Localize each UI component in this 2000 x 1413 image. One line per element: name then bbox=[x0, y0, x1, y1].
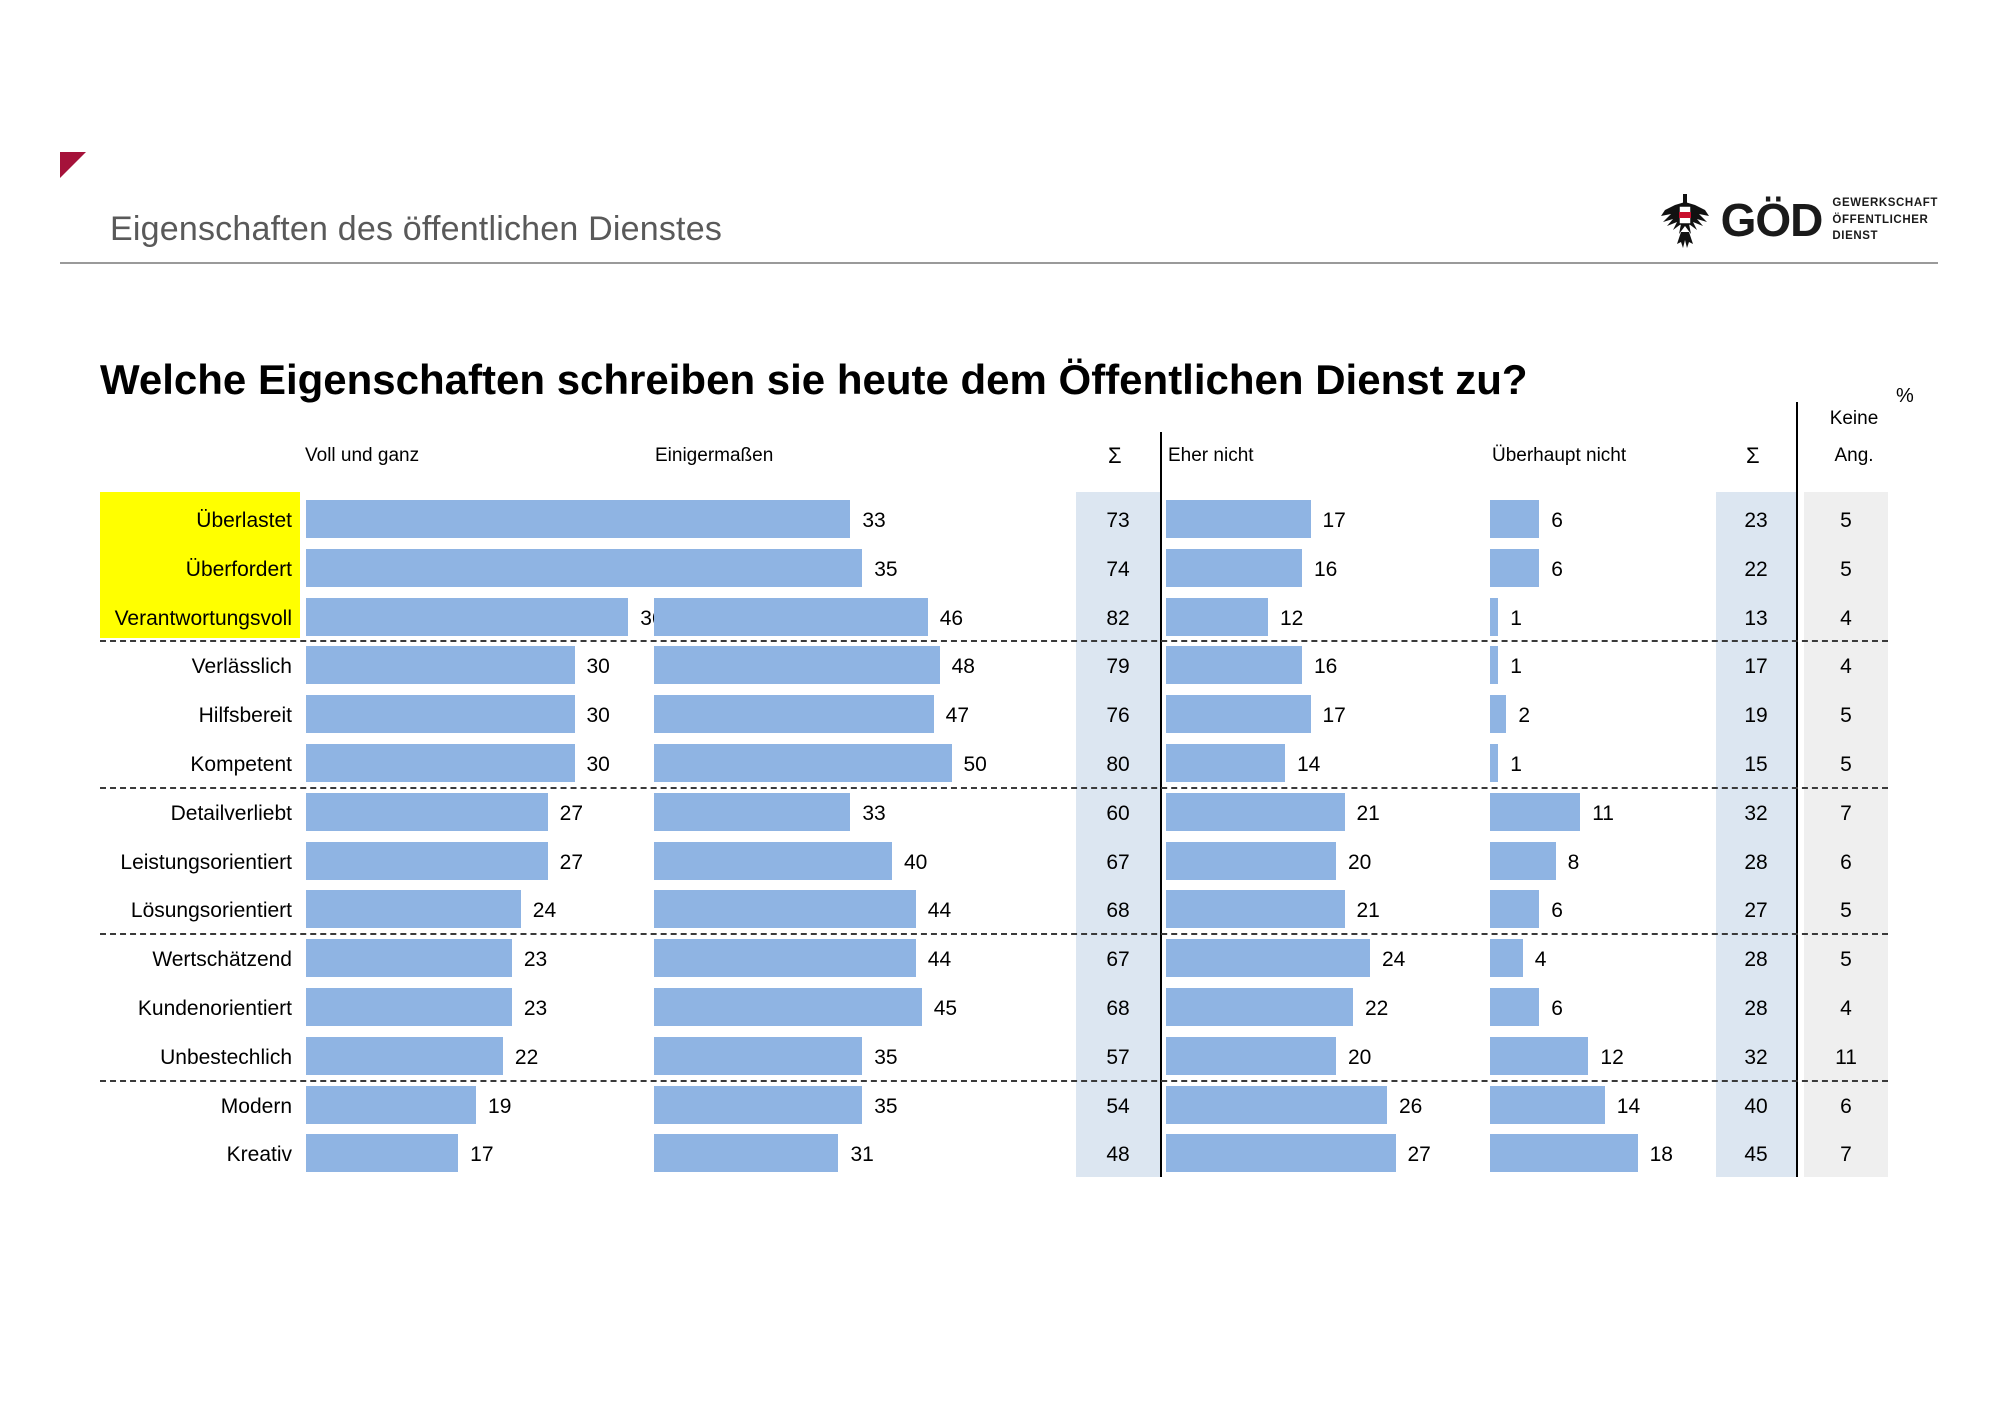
column-header-sum2: Σ bbox=[1746, 443, 1760, 469]
value-sum1: 82 bbox=[1076, 608, 1160, 629]
value-einigermassen: 40 bbox=[904, 852, 927, 873]
value-ueberhaupt-nicht: 6 bbox=[1551, 900, 1563, 921]
value-sum2: 32 bbox=[1716, 1047, 1796, 1068]
value-sum2: 17 bbox=[1716, 656, 1796, 677]
value-voll-und-ganz: 27 bbox=[560, 852, 583, 873]
bar-voll-und-ganz bbox=[306, 646, 575, 684]
value-keine-ang: 7 bbox=[1804, 1144, 1888, 1165]
value-sum1: 73 bbox=[1076, 510, 1160, 531]
value-keine-ang: 4 bbox=[1804, 656, 1888, 677]
bar-einigermassen bbox=[654, 1037, 862, 1075]
value-eher-nicht: 21 bbox=[1357, 900, 1380, 921]
bar-eher-nicht bbox=[1166, 695, 1311, 733]
value-keine-ang: 5 bbox=[1804, 705, 1888, 726]
row-label: Modern bbox=[100, 1096, 292, 1117]
value-einigermassen: 44 bbox=[928, 949, 951, 970]
value-keine-ang: 4 bbox=[1804, 998, 1888, 1019]
value-keine-ang: 5 bbox=[1804, 949, 1888, 970]
column-header-einigermassen: Einigermaßen bbox=[655, 445, 773, 467]
bar-voll-und-ganz bbox=[306, 1086, 476, 1124]
bar-voll-und-ganz bbox=[306, 1134, 458, 1172]
bar-eher-nicht bbox=[1166, 842, 1336, 880]
bar-ueberhaupt-nicht bbox=[1490, 500, 1539, 538]
row-label: Wertschätzend bbox=[100, 949, 292, 970]
bar-voll-und-ganz bbox=[306, 549, 655, 587]
value-sum2: 23 bbox=[1716, 510, 1796, 531]
keine-ang-column-band bbox=[1804, 492, 1888, 1177]
row-label: Leistungsorientiert bbox=[100, 852, 292, 873]
group-separator-line bbox=[100, 1080, 1888, 1082]
value-sum1: 67 bbox=[1076, 852, 1160, 873]
row-label: Kompetent bbox=[100, 754, 292, 775]
value-sum2: 13 bbox=[1716, 608, 1796, 629]
bar-eher-nicht bbox=[1166, 1134, 1396, 1172]
bar-einigermassen bbox=[654, 646, 940, 684]
value-eher-nicht: 24 bbox=[1382, 949, 1405, 970]
column-header-sum1: Σ bbox=[1108, 443, 1122, 469]
bar-eher-nicht bbox=[1166, 598, 1268, 636]
value-keine-ang: 6 bbox=[1804, 852, 1888, 873]
bar-einigermassen bbox=[654, 988, 922, 1026]
bar-ueberhaupt-nicht bbox=[1490, 890, 1539, 928]
value-eher-nicht: 16 bbox=[1314, 559, 1337, 580]
row-label: Verlässlich bbox=[100, 656, 292, 677]
value-keine-ang: 5 bbox=[1804, 510, 1888, 531]
bar-ueberhaupt-nicht bbox=[1490, 695, 1506, 733]
value-keine-ang: 6 bbox=[1804, 1096, 1888, 1117]
value-ueberhaupt-nicht: 11 bbox=[1592, 803, 1614, 824]
row-label: Hilfsbereit bbox=[100, 705, 292, 726]
bar-eher-nicht bbox=[1166, 549, 1302, 587]
value-einigermassen: 35 bbox=[874, 1047, 897, 1068]
value-einigermassen: 33 bbox=[862, 510, 885, 531]
group-separator-line bbox=[100, 640, 1888, 642]
value-ueberhaupt-nicht: 14 bbox=[1617, 1096, 1640, 1117]
value-ueberhaupt-nicht: 6 bbox=[1551, 559, 1563, 580]
value-eher-nicht: 17 bbox=[1323, 705, 1346, 726]
value-sum2: 32 bbox=[1716, 803, 1796, 824]
value-eher-nicht: 16 bbox=[1314, 656, 1337, 677]
bar-voll-und-ganz bbox=[306, 744, 575, 782]
value-eher-nicht: 14 bbox=[1297, 754, 1320, 775]
value-voll-und-ganz: 30 bbox=[587, 656, 610, 677]
row-label: Verantwortungsvoll bbox=[100, 608, 292, 629]
bar-einigermassen bbox=[654, 793, 850, 831]
bar-ueberhaupt-nicht bbox=[1490, 549, 1539, 587]
value-keine-ang: 5 bbox=[1804, 900, 1888, 921]
group-separator-line bbox=[100, 787, 1888, 789]
bar-ueberhaupt-nicht bbox=[1490, 646, 1498, 684]
value-ueberhaupt-nicht: 1 bbox=[1510, 754, 1522, 775]
bar-einigermassen bbox=[654, 500, 850, 538]
value-sum2: 28 bbox=[1716, 852, 1796, 873]
value-keine-ang: 7 bbox=[1804, 803, 1888, 824]
sum1-column-band bbox=[1076, 492, 1160, 1177]
value-sum2: 45 bbox=[1716, 1144, 1796, 1165]
sum2-column-band bbox=[1716, 492, 1796, 1177]
value-voll-und-ganz: 23 bbox=[524, 949, 547, 970]
bar-eher-nicht bbox=[1166, 988, 1353, 1026]
value-keine-ang: 11 bbox=[1804, 1047, 1888, 1068]
value-ueberhaupt-nicht: 8 bbox=[1568, 852, 1580, 873]
value-sum2: 27 bbox=[1716, 900, 1796, 921]
value-voll-und-ganz: 19 bbox=[488, 1096, 511, 1117]
value-ueberhaupt-nicht: 1 bbox=[1510, 656, 1522, 677]
bar-eher-nicht bbox=[1166, 1037, 1336, 1075]
value-voll-und-ganz: 22 bbox=[515, 1047, 538, 1068]
value-sum2: 28 bbox=[1716, 998, 1796, 1019]
chart-area: Voll und ganzEinigermaßenΣEher nichtÜber… bbox=[0, 0, 2000, 1413]
bar-eher-nicht bbox=[1166, 646, 1302, 684]
bar-eher-nicht bbox=[1166, 500, 1311, 538]
bar-einigermassen bbox=[654, 1086, 862, 1124]
separator-line-middle bbox=[1160, 432, 1162, 1177]
value-ueberhaupt-nicht: 6 bbox=[1551, 998, 1563, 1019]
bar-ueberhaupt-nicht bbox=[1490, 1086, 1605, 1124]
value-einigermassen: 47 bbox=[946, 705, 969, 726]
value-sum1: 68 bbox=[1076, 998, 1160, 1019]
column-header-ueberhaupt-nicht: Überhaupt nicht bbox=[1492, 445, 1626, 467]
value-ueberhaupt-nicht: 1 bbox=[1510, 608, 1522, 629]
bar-voll-und-ganz bbox=[306, 842, 548, 880]
value-sum1: 79 bbox=[1076, 656, 1160, 677]
row-label: Überfordert bbox=[100, 559, 292, 580]
value-sum2: 19 bbox=[1716, 705, 1796, 726]
value-eher-nicht: 17 bbox=[1323, 510, 1346, 531]
bar-einigermassen bbox=[654, 744, 952, 782]
value-voll-und-ganz: 30 bbox=[587, 705, 610, 726]
value-eher-nicht: 20 bbox=[1348, 1047, 1371, 1068]
value-eher-nicht: 27 bbox=[1408, 1144, 1431, 1165]
bar-einigermassen bbox=[654, 549, 862, 587]
bar-voll-und-ganz bbox=[306, 939, 512, 977]
bar-ueberhaupt-nicht bbox=[1490, 939, 1523, 977]
value-eher-nicht: 20 bbox=[1348, 852, 1371, 873]
value-voll-und-ganz: 23 bbox=[524, 998, 547, 1019]
value-voll-und-ganz: 30 bbox=[587, 754, 610, 775]
bar-eher-nicht bbox=[1166, 939, 1370, 977]
value-ueberhaupt-nicht: 2 bbox=[1518, 705, 1530, 726]
bar-ueberhaupt-nicht bbox=[1490, 744, 1498, 782]
bar-voll-und-ganz bbox=[306, 500, 655, 538]
value-sum1: 67 bbox=[1076, 949, 1160, 970]
bar-einigermassen bbox=[654, 1134, 838, 1172]
value-keine-ang: 5 bbox=[1804, 559, 1888, 580]
bar-voll-und-ganz bbox=[306, 793, 548, 831]
bar-eher-nicht bbox=[1166, 890, 1345, 928]
row-label: Detailverliebt bbox=[100, 803, 292, 824]
column-header-voll-und-ganz: Voll und ganz bbox=[305, 445, 419, 467]
bar-einigermassen bbox=[654, 890, 916, 928]
value-sum2: 40 bbox=[1716, 1096, 1796, 1117]
bar-einigermassen bbox=[654, 842, 892, 880]
value-einigermassen: 31 bbox=[850, 1144, 873, 1165]
bar-ueberhaupt-nicht bbox=[1490, 1134, 1638, 1172]
column-header-keine-ang-line2: Ang. bbox=[1812, 445, 1896, 467]
value-ueberhaupt-nicht: 4 bbox=[1535, 949, 1547, 970]
bar-ueberhaupt-nicht bbox=[1490, 842, 1556, 880]
value-keine-ang: 4 bbox=[1804, 608, 1888, 629]
bar-eher-nicht bbox=[1166, 793, 1345, 831]
value-sum1: 76 bbox=[1076, 705, 1160, 726]
value-sum1: 74 bbox=[1076, 559, 1160, 580]
value-einigermassen: 35 bbox=[874, 559, 897, 580]
value-sum1: 57 bbox=[1076, 1047, 1160, 1068]
value-sum2: 22 bbox=[1716, 559, 1796, 580]
row-label: Lösungsorientiert bbox=[100, 900, 292, 921]
column-header-eher-nicht: Eher nicht bbox=[1168, 445, 1254, 467]
bar-voll-und-ganz bbox=[306, 988, 512, 1026]
value-voll-und-ganz: 17 bbox=[470, 1144, 493, 1165]
value-sum2: 28 bbox=[1716, 949, 1796, 970]
bar-voll-und-ganz bbox=[306, 695, 575, 733]
separator-line-keine-ang bbox=[1796, 402, 1798, 1177]
value-sum1: 80 bbox=[1076, 754, 1160, 775]
bar-voll-und-ganz bbox=[306, 890, 521, 928]
bar-eher-nicht bbox=[1166, 1086, 1387, 1124]
row-label: Kreativ bbox=[100, 1144, 292, 1165]
value-eher-nicht: 12 bbox=[1280, 608, 1303, 629]
value-einigermassen: 35 bbox=[874, 1096, 897, 1117]
bar-voll-und-ganz bbox=[306, 1037, 503, 1075]
value-einigermassen: 48 bbox=[952, 656, 975, 677]
value-eher-nicht: 21 bbox=[1357, 803, 1380, 824]
column-header-keine-ang-line1: Keine bbox=[1812, 408, 1896, 430]
value-einigermassen: 44 bbox=[928, 900, 951, 921]
value-keine-ang: 5 bbox=[1804, 754, 1888, 775]
bar-ueberhaupt-nicht bbox=[1490, 793, 1580, 831]
value-einigermassen: 46 bbox=[940, 608, 963, 629]
value-voll-und-ganz: 27 bbox=[560, 803, 583, 824]
row-label: Unbestechlich bbox=[100, 1047, 292, 1068]
row-label: Kundenorientiert bbox=[100, 998, 292, 1019]
value-ueberhaupt-nicht: 18 bbox=[1650, 1144, 1673, 1165]
bar-einigermassen bbox=[654, 939, 916, 977]
bar-ueberhaupt-nicht bbox=[1490, 988, 1539, 1026]
value-sum1: 54 bbox=[1076, 1096, 1160, 1117]
value-ueberhaupt-nicht: 12 bbox=[1600, 1047, 1623, 1068]
value-sum2: 15 bbox=[1716, 754, 1796, 775]
value-ueberhaupt-nicht: 6 bbox=[1551, 510, 1563, 531]
group-separator-line bbox=[100, 933, 1888, 935]
bar-eher-nicht bbox=[1166, 744, 1285, 782]
bar-ueberhaupt-nicht bbox=[1490, 1037, 1588, 1075]
bar-ueberhaupt-nicht bbox=[1490, 598, 1498, 636]
value-einigermassen: 45 bbox=[934, 998, 957, 1019]
value-voll-und-ganz: 24 bbox=[533, 900, 556, 921]
value-einigermassen: 33 bbox=[862, 803, 885, 824]
bar-voll-und-ganz bbox=[306, 598, 628, 636]
bar-einigermassen bbox=[654, 695, 934, 733]
value-eher-nicht: 22 bbox=[1365, 998, 1388, 1019]
value-sum1: 60 bbox=[1076, 803, 1160, 824]
row-label: Überlastet bbox=[100, 510, 292, 531]
value-einigermassen: 50 bbox=[964, 754, 987, 775]
bar-einigermassen bbox=[654, 598, 928, 636]
value-eher-nicht: 26 bbox=[1399, 1096, 1422, 1117]
value-sum1: 48 bbox=[1076, 1144, 1160, 1165]
value-sum1: 68 bbox=[1076, 900, 1160, 921]
